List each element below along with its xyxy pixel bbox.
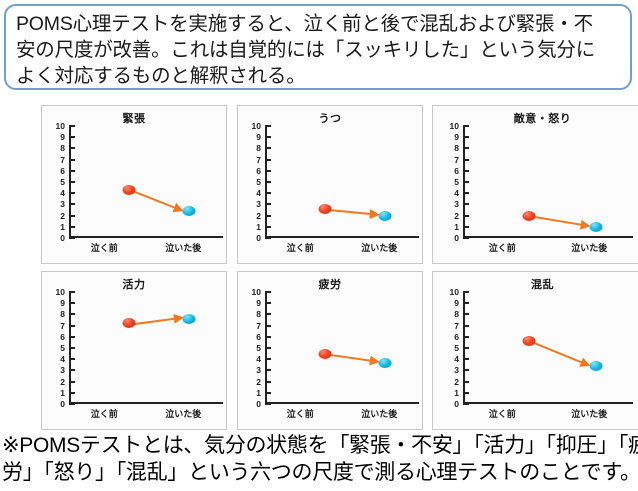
y-axis-tick-label: 6: [256, 167, 261, 176]
chart-panel-2: 敵意・怒り109876543210泣く前泣いた後: [432, 105, 638, 264]
x-axis-tick-label: 泣く前: [489, 407, 516, 420]
y-axis-tick: [463, 215, 469, 217]
y-axis-tick-label: 5: [60, 344, 65, 353]
y-axis-tick: [463, 392, 469, 394]
y-axis-tick: [463, 381, 469, 383]
x-axis-tick-label: 泣いた後: [165, 407, 201, 420]
y-axis-tick-label: 6: [454, 333, 459, 342]
y-axis-tick: [69, 181, 75, 183]
x-axis-labels: 泣く前泣いた後: [461, 407, 635, 420]
y-axis-tick-label: 0: [60, 400, 65, 409]
y-axis-tick: [69, 369, 75, 371]
footnote-line-1: ※POMSテストとは、気分の状態を「緊張・不安」「活力」「抑圧」「疲: [2, 432, 638, 459]
y-axis-tick-label: 9: [454, 133, 459, 142]
y-axis-tick-label: 8: [60, 144, 65, 153]
y-axis-tick-label: 0: [256, 400, 261, 409]
y-axis-tick-label: 4: [454, 189, 459, 198]
y-axis-tick: [265, 291, 271, 293]
trend-arrow-icon: [69, 126, 219, 238]
y-axis-tick: [463, 347, 469, 349]
x-axis-tick-label: 泣く前: [91, 241, 118, 254]
x-axis-tick-label: 泣いた後: [361, 241, 397, 254]
y-axis-tick: [265, 302, 271, 304]
x-axis: [265, 402, 419, 404]
y-axis-tick-label: 10: [450, 122, 459, 131]
y-axis-tick: [265, 125, 271, 127]
y-axis-tick-label: 10: [56, 122, 65, 131]
y-axis-tick: [69, 313, 75, 315]
y-axis-tick-label: 1: [454, 389, 459, 398]
y-axis-tick: [463, 313, 469, 315]
y-axis-tick: [69, 147, 75, 149]
y-axis-tick: [265, 381, 271, 383]
y-axis-tick: [265, 203, 271, 205]
y-axis-tick-label: 1: [60, 223, 65, 232]
y-axis-tick: [265, 215, 271, 217]
y-axis-tick-label: 10: [56, 288, 65, 297]
y-axis-tick: [265, 170, 271, 172]
y-axis-tick: [463, 125, 469, 127]
y-axis-tick-label: 2: [256, 211, 261, 220]
x-axis: [69, 402, 223, 404]
summary-line-1: POMS心理テストを実施すると、泣く前と後で混乱および緊張・不: [16, 11, 622, 37]
y-axis-tick: [463, 203, 469, 205]
y-axis-tick: [265, 181, 271, 183]
y-axis-tick: [463, 336, 469, 338]
data-point-after: [379, 211, 392, 221]
y-axis-tick: [463, 358, 469, 360]
y-axis-tick: [69, 136, 75, 138]
y-axis-tick-label: 6: [60, 333, 65, 342]
y-axis-tick-label: 5: [256, 178, 261, 187]
x-axis-tick-label: 泣いた後: [361, 407, 397, 420]
y-axis-tick: [463, 291, 469, 293]
y-axis-tick-label: 4: [60, 189, 65, 198]
chart-title: 活力: [42, 276, 226, 292]
y-axis-tick-label: 1: [454, 223, 459, 232]
x-axis-labels: 泣く前泣いた後: [67, 407, 225, 420]
summary-line-2: 安の尺度が改善。これは自覚的には「スッキリした」という気分に: [16, 37, 622, 63]
y-axis-tick-label: 2: [60, 377, 65, 386]
y-axis-tick-label: 7: [256, 155, 261, 164]
plot-area: 109876543210泣く前泣いた後: [265, 292, 415, 404]
y-axis-tick: [463, 192, 469, 194]
y-axis-tick: [69, 381, 75, 383]
chart-title: 緊張: [42, 110, 226, 126]
y-axis-tick-label: 5: [60, 178, 65, 187]
y-axis-tick-label: 9: [60, 299, 65, 308]
x-axis-tick-label: 泣いた後: [571, 241, 607, 254]
data-point-before: [523, 336, 536, 346]
y-axis-tick-label: 1: [60, 389, 65, 398]
y-axis-tick-label: 8: [256, 310, 261, 319]
y-axis-tick: [69, 392, 75, 394]
y-axis-tick-label: 4: [256, 189, 261, 198]
y-axis-tick: [69, 403, 75, 405]
y-axis-tick: [69, 125, 75, 127]
x-axis-tick-label: 泣く前: [287, 407, 314, 420]
summary-callout-box: POMS心理テストを実施すると、泣く前と後で混乱および緊張・不 安の尺度が改善。…: [4, 4, 632, 90]
y-axis-tick-label: 10: [252, 288, 261, 297]
x-axis-labels: 泣く前泣いた後: [263, 407, 421, 420]
y-axis-tick: [265, 237, 271, 239]
y-axis-tick: [463, 403, 469, 405]
data-point-before: [123, 318, 136, 328]
chart-title: 混乱: [433, 276, 638, 292]
y-axis-tick-label: 3: [60, 366, 65, 375]
x-axis-labels: 泣く前泣いた後: [67, 241, 225, 254]
x-axis: [463, 236, 633, 238]
chart-title: 疲労: [238, 276, 422, 292]
y-axis-tick: [69, 215, 75, 217]
x-axis-labels: 泣く前泣いた後: [263, 241, 421, 254]
data-point-after: [183, 314, 196, 324]
y-axis-tick-label: 8: [454, 144, 459, 153]
x-axis: [265, 236, 419, 238]
y-axis-tick: [463, 226, 469, 228]
plot-area: 109876543210泣く前泣いた後: [265, 126, 415, 238]
y-axis-tick: [463, 170, 469, 172]
y-axis-tick: [463, 237, 469, 239]
y-axis-tick-label: 8: [60, 310, 65, 319]
poms-chart-grid: 緊張109876543210泣く前泣いた後うつ109876543210泣く前泣い…: [41, 105, 598, 430]
y-axis-tick: [463, 147, 469, 149]
y-axis-tick-label: 5: [454, 344, 459, 353]
plot-area: 109876543210泣く前泣いた後: [69, 126, 219, 238]
y-axis-tick-label: 2: [454, 211, 459, 220]
y-axis-tick-label: 0: [454, 234, 459, 243]
data-point-after: [589, 361, 602, 371]
y-axis-tick: [69, 358, 75, 360]
data-point-after: [379, 358, 392, 368]
y-axis-tick-label: 7: [454, 321, 459, 330]
x-axis-tick-label: 泣いた後: [571, 407, 607, 420]
y-axis-tick-label: 9: [454, 299, 459, 308]
y-axis-tick: [463, 302, 469, 304]
plot-area: 109876543210泣く前泣いた後: [463, 126, 629, 238]
y-axis-tick-label: 9: [60, 133, 65, 142]
y-axis-tick-label: 0: [256, 234, 261, 243]
y-axis-tick: [265, 347, 271, 349]
y-axis-tick: [463, 181, 469, 183]
data-point-after: [183, 206, 196, 216]
y-axis-tick-label: 2: [60, 211, 65, 220]
trend-arrow-icon: [265, 292, 415, 404]
y-axis-tick: [69, 203, 75, 205]
chart-panel-1: うつ109876543210泣く前泣いた後: [237, 105, 423, 264]
plot-area: 109876543210泣く前泣いた後: [69, 292, 219, 404]
footnote-line-2: 労」「怒り」「混乱」という六つの尺度で測る心理テストのことです。: [2, 459, 638, 486]
y-axis-tick: [69, 226, 75, 228]
y-axis-tick: [69, 347, 75, 349]
y-axis-tick-label: 3: [454, 200, 459, 209]
x-axis-tick-label: 泣く前: [489, 241, 516, 254]
data-point-before: [319, 204, 332, 214]
y-axis-tick-label: 4: [454, 355, 459, 364]
y-axis-tick: [265, 392, 271, 394]
y-axis-tick: [265, 192, 271, 194]
data-point-before: [319, 349, 332, 359]
y-axis-tick: [463, 159, 469, 161]
y-axis-tick-label: 7: [454, 155, 459, 164]
trend-arrow-icon: [265, 126, 415, 238]
chart-title: うつ: [238, 110, 422, 126]
y-axis-tick: [265, 325, 271, 327]
y-axis-tick-label: 2: [256, 377, 261, 386]
x-axis-tick-label: 泣く前: [287, 241, 314, 254]
y-axis-tick: [463, 325, 469, 327]
y-axis-tick: [265, 336, 271, 338]
y-axis-tick-label: 9: [256, 299, 261, 308]
y-axis-tick: [69, 325, 75, 327]
y-axis-tick: [265, 369, 271, 371]
y-axis-tick-label: 1: [256, 223, 261, 232]
y-axis-tick-label: 3: [454, 366, 459, 375]
y-axis-tick: [265, 136, 271, 138]
chart-panel-4: 疲労109876543210泣く前泣いた後: [237, 271, 423, 430]
chart-panel-3: 活力109876543210泣く前泣いた後: [41, 271, 227, 430]
y-axis-tick-label: 6: [60, 167, 65, 176]
x-axis-tick-label: 泣いた後: [165, 241, 201, 254]
y-axis-tick-label: 7: [256, 321, 261, 330]
x-axis-tick-label: 泣く前: [91, 407, 118, 420]
y-axis-tick-label: 4: [256, 355, 261, 364]
x-axis: [69, 236, 223, 238]
y-axis-tick-label: 4: [60, 355, 65, 364]
y-axis-tick: [265, 226, 271, 228]
y-axis-tick-label: 5: [256, 344, 261, 353]
chart-panel-5: 混乱109876543210泣く前泣いた後: [432, 271, 638, 430]
y-axis-tick: [69, 159, 75, 161]
plot-area: 109876543210泣く前泣いた後: [463, 292, 629, 404]
y-axis-tick-label: 3: [256, 200, 261, 209]
y-axis-tick-label: 3: [60, 200, 65, 209]
y-axis-tick: [265, 358, 271, 360]
y-axis-tick-label: 10: [252, 122, 261, 131]
y-axis-tick: [463, 136, 469, 138]
y-axis-tick-label: 6: [256, 333, 261, 342]
y-axis-tick: [463, 369, 469, 371]
y-axis-tick-label: 8: [256, 144, 261, 153]
y-axis-tick: [265, 159, 271, 161]
y-axis-tick-label: 7: [60, 321, 65, 330]
y-axis-tick: [265, 147, 271, 149]
y-axis-tick: [265, 313, 271, 315]
y-axis-tick-label: 8: [454, 310, 459, 319]
trend-arrow-icon: [463, 126, 629, 238]
y-axis-tick: [69, 170, 75, 172]
y-axis-tick-label: 0: [60, 234, 65, 243]
x-axis: [463, 402, 633, 404]
y-axis-tick: [69, 302, 75, 304]
y-axis-tick-label: 1: [256, 389, 261, 398]
y-axis-tick: [69, 336, 75, 338]
data-point-before: [123, 185, 136, 195]
y-axis-tick-label: 10: [450, 288, 459, 297]
summary-line-3: よく対応するものと解釈される。: [16, 63, 622, 89]
y-axis-tick-label: 3: [256, 366, 261, 375]
y-axis-tick-label: 9: [256, 133, 261, 142]
y-axis-tick-label: 2: [454, 377, 459, 386]
y-axis-tick-label: 6: [454, 167, 459, 176]
data-point-before: [523, 211, 536, 221]
chart-title: 敵意・怒り: [433, 110, 638, 126]
data-point-after: [589, 222, 602, 232]
y-axis-tick-label: 7: [60, 155, 65, 164]
y-axis-tick-label: 0: [454, 400, 459, 409]
chart-panel-0: 緊張109876543210泣く前泣いた後: [41, 105, 227, 264]
trend-arrow-icon: [69, 292, 219, 404]
y-axis-tick: [69, 237, 75, 239]
x-axis-labels: 泣く前泣いた後: [461, 241, 635, 254]
y-axis-tick: [69, 192, 75, 194]
y-axis-tick: [265, 403, 271, 405]
trend-arrow-icon: [463, 292, 629, 404]
y-axis-tick-label: 5: [454, 178, 459, 187]
y-axis-tick: [69, 291, 75, 293]
footnote-caption: ※POMSテストとは、気分の状態を「緊張・不安」「活力」「抑圧」「疲 労」「怒り…: [2, 432, 638, 486]
